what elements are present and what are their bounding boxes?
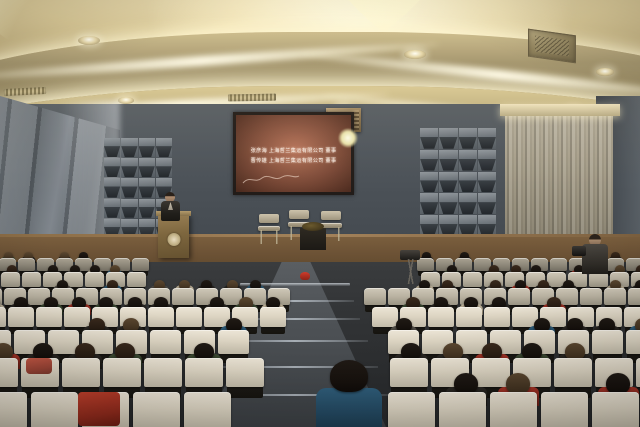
auditorium-seat xyxy=(132,258,149,271)
auditorium-seat xyxy=(554,358,592,387)
auditorium-seat xyxy=(133,392,180,427)
diffuser-cell xyxy=(420,150,438,171)
auditorium-seat xyxy=(150,330,181,354)
audience-member-head xyxy=(606,373,630,394)
diffuser-cell xyxy=(104,199,120,218)
auditorium-seat xyxy=(592,330,623,354)
auditorium-seat xyxy=(490,392,537,427)
auditorium-seat xyxy=(364,288,386,305)
auditorium-seat xyxy=(184,392,231,427)
diffuser-cell xyxy=(459,150,477,171)
auditorium-seat xyxy=(226,358,264,387)
diffuser-cell xyxy=(104,158,120,177)
auditorium-seat xyxy=(0,307,6,327)
diffuser-cell xyxy=(478,128,496,149)
auditorium-seat xyxy=(604,288,626,305)
audience-red-jacket xyxy=(78,392,120,426)
diffuser-cell xyxy=(139,138,155,157)
diffuser-cell xyxy=(459,193,477,214)
diffuser-cell xyxy=(121,158,137,177)
diffuser-cell xyxy=(139,199,155,218)
audience-blue-hoodie-head xyxy=(330,360,368,392)
auditorium-seat xyxy=(456,307,482,327)
screen-text-line-1: 张彦海 上海哲兰集运有限公司 董事 xyxy=(251,147,337,154)
auditorium-seat xyxy=(103,358,141,387)
audience-blue-hoodie xyxy=(316,388,382,427)
auditorium-seat xyxy=(31,392,78,427)
stage-side-table xyxy=(300,228,326,250)
vent-strip-center-icon xyxy=(228,94,276,102)
auditorium-seat xyxy=(127,272,146,287)
diffuser-cell xyxy=(439,193,457,214)
auditorium-seat xyxy=(390,358,428,387)
auditorium-seat xyxy=(144,358,182,387)
auditorium-seat xyxy=(176,307,202,327)
auditorium-seat xyxy=(628,288,640,305)
acoustic-diffuser-right xyxy=(420,128,496,236)
auditorium-seat xyxy=(550,258,567,271)
diffuser-cell xyxy=(459,172,477,193)
audience-member-head xyxy=(506,373,530,394)
auditorium-seat xyxy=(172,288,194,305)
auditorium-seat xyxy=(0,392,27,427)
tripod-video-camera xyxy=(400,250,422,284)
stage-chair-back xyxy=(321,211,341,220)
camera-operator xyxy=(580,234,610,274)
auditorium-seat xyxy=(0,288,2,305)
diffuser-cell xyxy=(104,138,120,157)
stage-chair-back xyxy=(259,214,279,223)
auditorium-seat xyxy=(85,272,104,287)
auditorium-seat xyxy=(508,288,530,305)
screen-wave-graphic xyxy=(242,172,300,186)
audience-member-head xyxy=(454,373,478,394)
projection-screen: 张彦海 上海哲兰集运有限公司 董事 曹传雄 上海哲兰集运有限公司 董事 xyxy=(236,115,351,192)
diffuser-cell xyxy=(478,172,496,193)
diffuser-cell xyxy=(420,128,438,149)
diffuser-cell xyxy=(439,150,457,171)
stage-chair-back xyxy=(289,210,309,219)
diffuser-cell xyxy=(420,193,438,214)
diffuser-cell xyxy=(478,215,496,236)
auditorium-seat xyxy=(18,258,35,271)
auditorium-seat xyxy=(260,307,286,327)
diffuser-cell xyxy=(121,138,137,157)
auditorium-seat xyxy=(148,307,174,327)
auditorium-seat xyxy=(626,330,640,354)
institution-seal-icon xyxy=(167,233,180,246)
projection-screen-frame: 张彦海 上海哲兰集运有限公司 董事 曹传雄 上海哲兰集运有限公司 董事 xyxy=(233,112,354,195)
auditorium-seat xyxy=(62,358,100,387)
auditorium-seat xyxy=(439,392,486,427)
diffuser-cell xyxy=(139,178,155,197)
stage-chair-legs xyxy=(259,230,279,244)
auditorium-seat xyxy=(484,307,510,327)
diffuser-cell xyxy=(121,199,137,218)
auditorium-seat xyxy=(589,272,608,287)
auditorium-seat xyxy=(580,288,602,305)
auditorium-seat xyxy=(0,358,18,387)
audience-red-hat xyxy=(300,272,310,280)
diffuser-cell xyxy=(478,193,496,214)
diffuser-cell xyxy=(459,215,477,236)
stage-flower-arrangement xyxy=(302,222,324,231)
auditorium-seat xyxy=(541,392,588,427)
auditorium-seat xyxy=(185,358,223,387)
auditorium-seat xyxy=(636,358,640,387)
auditorium-photo: 张彦海 上海哲兰集运有限公司 董事 曹传雄 上海哲兰集运有限公司 董事 xyxy=(0,0,640,427)
auditorium-seat xyxy=(8,307,34,327)
tripod-legs xyxy=(402,259,420,284)
stage-chair-1 xyxy=(258,214,280,244)
handheld-camera-icon xyxy=(572,246,586,256)
auditorium-seat xyxy=(22,272,41,287)
screen-lens-glare-icon xyxy=(338,128,358,148)
downlight-2-icon xyxy=(404,50,426,59)
diffuser-cell xyxy=(439,172,457,193)
diffuser-cell xyxy=(439,128,457,149)
diffuser-cell xyxy=(478,150,496,171)
diffuser-cell xyxy=(420,172,438,193)
downlight-5-icon xyxy=(596,68,614,76)
auditorium-seat xyxy=(592,392,639,427)
audience-red-bag xyxy=(26,358,52,374)
diffuser-cell xyxy=(420,215,438,236)
auditorium-seat xyxy=(218,330,249,354)
auditorium-seat xyxy=(64,307,90,327)
auditorium-seat xyxy=(1,272,20,287)
diffuser-cell xyxy=(439,215,457,236)
auditorium-seat xyxy=(455,258,472,271)
diffuser-cell xyxy=(121,178,137,197)
diffuser-cell xyxy=(459,128,477,149)
presenter xyxy=(161,192,180,220)
auditorium-seat xyxy=(388,392,435,427)
diffuser-cell xyxy=(156,138,172,157)
auditorium-seat xyxy=(36,307,62,327)
diffuser-cell xyxy=(104,178,120,197)
auditorium-seat xyxy=(463,272,482,287)
auditorium-seat xyxy=(428,307,454,327)
diffuser-cell xyxy=(139,158,155,177)
curtain-valance-light xyxy=(500,104,620,116)
auditorium-seat xyxy=(372,307,398,327)
downlight-1-icon xyxy=(78,36,100,45)
screen-text-line-2: 曹传雄 上海哲兰集运有限公司 董事 xyxy=(251,157,337,164)
diffuser-cell xyxy=(156,158,172,177)
downlight-3-icon xyxy=(118,97,134,104)
